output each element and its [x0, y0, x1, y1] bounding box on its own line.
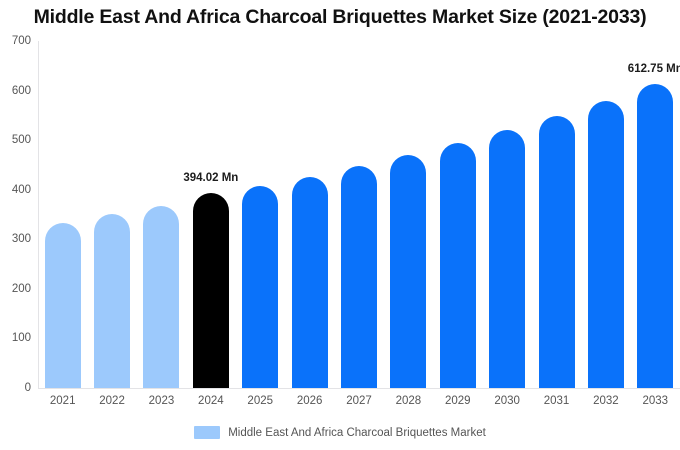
x-axis-tick-label: 2024 — [185, 395, 237, 407]
x-axis-tick-label: 2021 — [37, 395, 89, 407]
x-axis-tick-label: 2028 — [382, 395, 434, 407]
x-axis-tick-label: 2026 — [284, 395, 336, 407]
chart-container: Middle East And Africa Charcoal Briquett… — [0, 0, 680, 450]
x-axis-tick-label: 2022 — [86, 395, 138, 407]
x-axis-tick-label: 2027 — [333, 395, 385, 407]
x-axis-tick-label: 2030 — [481, 395, 533, 407]
x-axis-tick-labels: 2021202220232024202520262027202820292030… — [0, 0, 680, 450]
x-axis-tick-label: 2031 — [531, 395, 583, 407]
x-axis-tick-label: 2023 — [135, 395, 187, 407]
x-axis-tick-label: 2032 — [580, 395, 632, 407]
chart-legend: Middle East And Africa Charcoal Briquett… — [0, 426, 680, 439]
legend-swatch-icon — [194, 426, 220, 439]
x-axis-tick-label: 2029 — [432, 395, 484, 407]
legend-item-label: Middle East And Africa Charcoal Briquett… — [228, 427, 486, 439]
legend-item[interactable]: Middle East And Africa Charcoal Briquett… — [194, 426, 486, 439]
x-axis-tick-label: 2025 — [234, 395, 286, 407]
x-axis-tick-label: 2033 — [629, 395, 680, 407]
